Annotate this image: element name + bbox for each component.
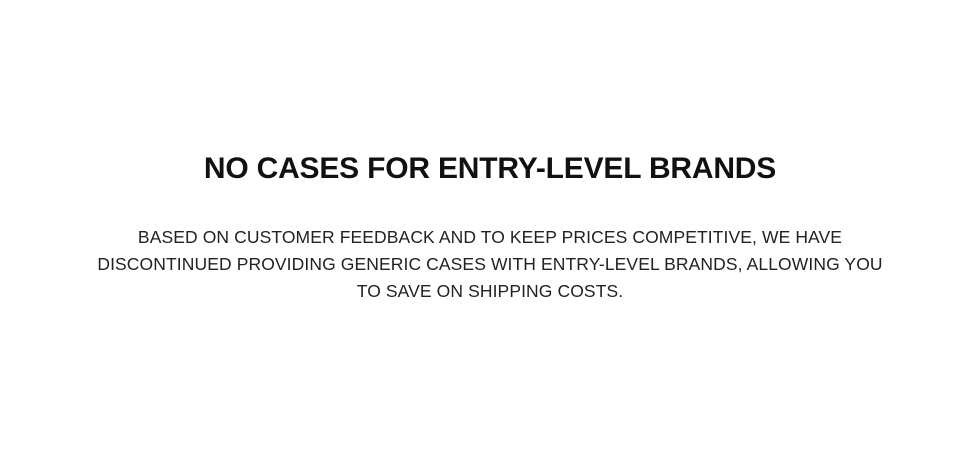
promo-banner-section: NO CASES FOR ENTRY-LEVEL BRANDS BASED ON…: [0, 0, 980, 450]
promo-content-wrapper: NO CASES FOR ENTRY-LEVEL BRANDS BASED ON…: [60, 152, 920, 305]
promo-description: BASED ON CUSTOMER FEEDBACK AND TO KEEP P…: [90, 186, 890, 305]
promo-heading: NO CASES FOR ENTRY-LEVEL BRANDS: [204, 152, 776, 186]
